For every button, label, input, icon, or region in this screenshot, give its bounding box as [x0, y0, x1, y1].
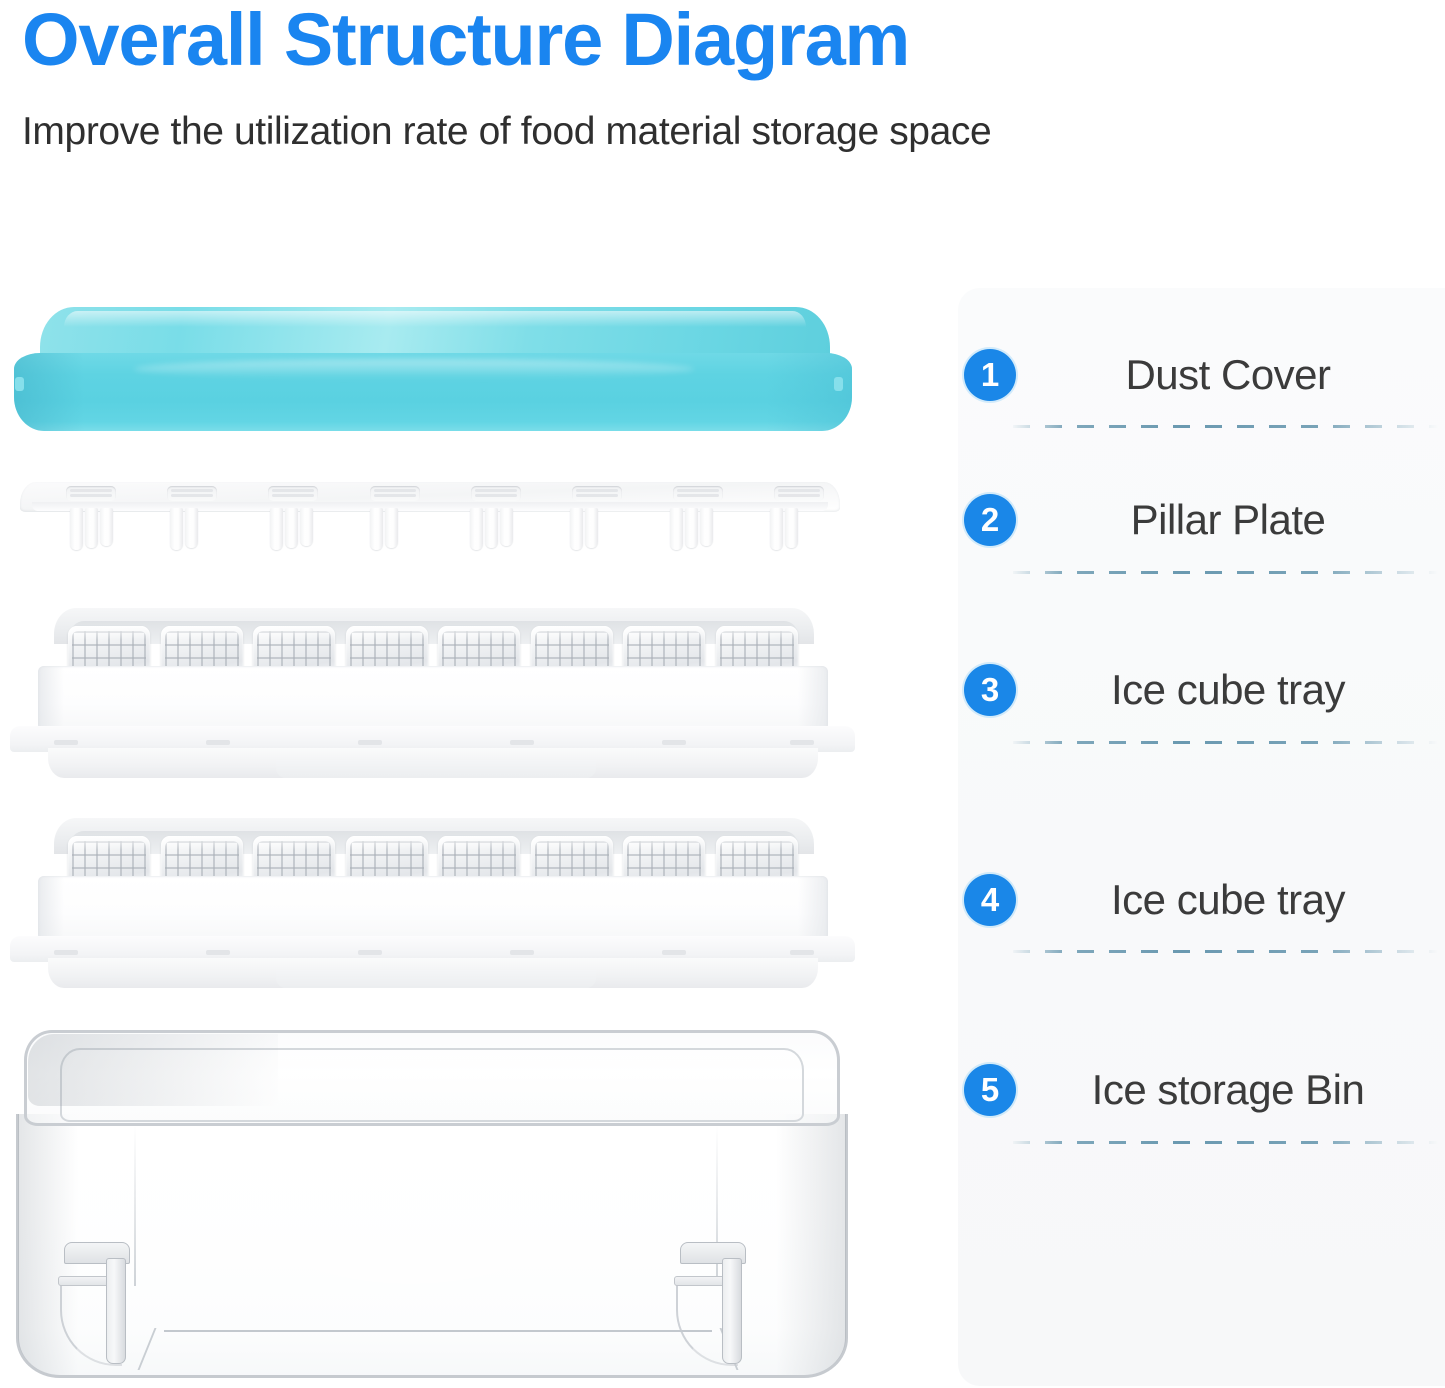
ice-cube-tray-upper-illustration — [10, 608, 855, 780]
pillar — [485, 508, 498, 548]
pillar-group — [170, 508, 232, 550]
legend-divider-3 — [1013, 741, 1438, 744]
tray-foot — [48, 748, 818, 778]
pillar-group — [270, 508, 332, 550]
pillar — [185, 508, 198, 548]
dust-cover-highlight — [134, 359, 694, 379]
pillar — [685, 508, 698, 548]
legend-number-3: 3 — [981, 673, 999, 706]
bin-handle-right — [674, 1242, 750, 1370]
tray-body — [38, 666, 828, 734]
pillar — [570, 508, 583, 550]
handle-post — [106, 1258, 126, 1364]
pillar-group — [470, 508, 532, 550]
pillar — [285, 508, 298, 548]
tray-tab — [510, 740, 534, 745]
legend-label-ice-cube-tray-4: Ice cube tray — [1018, 876, 1438, 924]
structure-diagram-page: Overall Structure Diagram Improve the ut… — [0, 0, 1445, 1388]
pillar — [585, 508, 598, 548]
bin-inner-wall-left — [134, 1126, 136, 1286]
pillar — [85, 508, 98, 548]
pillar — [470, 508, 483, 550]
tray-tab — [206, 740, 230, 745]
pillar-plate-hole — [66, 486, 116, 501]
pillar-group — [670, 508, 732, 550]
tray-tab — [358, 950, 382, 955]
pillar — [385, 508, 398, 548]
pillar-plate-hole — [167, 486, 217, 501]
product-illustration-stage — [0, 0, 940, 1388]
pillar-group — [370, 508, 432, 550]
legend-item-dust-cover[interactable]: 1 Dust Cover — [958, 320, 1445, 430]
bin-floor-line — [164, 1330, 712, 1332]
legend-number-badge-1: 1 — [964, 349, 1016, 401]
ice-storage-bin-illustration — [16, 1030, 848, 1378]
pillar-group — [70, 508, 132, 550]
legend-label-dust-cover: Dust Cover — [1018, 351, 1438, 399]
legend-number-badge-2: 2 — [964, 494, 1016, 546]
pillar-group — [770, 508, 832, 550]
legend-number-4: 4 — [981, 883, 999, 916]
pillar — [70, 508, 83, 550]
handle-post — [722, 1258, 742, 1364]
legend-item-pillar-plate[interactable]: 2 Pillar Plate — [958, 465, 1445, 575]
pillar-plate-hole — [774, 486, 824, 501]
ice-cube-tray-lower-illustration — [10, 818, 855, 990]
tray-tab — [206, 950, 230, 955]
tray-tab — [358, 740, 382, 745]
pillar-group — [570, 508, 632, 550]
pillar-plate-hole — [572, 486, 622, 501]
pillar — [100, 508, 113, 546]
tray-body — [38, 876, 828, 944]
legend-label-ice-cube-tray-3: Ice cube tray — [1018, 666, 1438, 714]
legend-label-pillar-plate: Pillar Plate — [1018, 496, 1438, 544]
legend-item-ice-cube-tray-4[interactable]: 4 Ice cube tray — [958, 845, 1445, 955]
pillar-plate-hole — [471, 486, 521, 501]
legend-panel: 1 Dust Cover 2 Pillar Plate 3 Ice cube t… — [958, 288, 1445, 1386]
legend-item-ice-storage-bin[interactable]: 5 Ice storage Bin — [958, 1035, 1445, 1145]
legend-number-badge-4: 4 — [964, 874, 1016, 926]
pillar-plate-hole — [268, 486, 318, 501]
legend-divider-1 — [1013, 425, 1438, 428]
tray-tab — [54, 950, 78, 955]
pillar — [170, 508, 183, 550]
bin-rim-shadow — [28, 1034, 278, 1106]
legend-label-ice-storage-bin: Ice storage Bin — [1018, 1066, 1438, 1114]
pillar — [300, 508, 313, 546]
pillar — [670, 508, 683, 550]
legend-number-5: 5 — [981, 1073, 999, 1106]
pillar — [270, 508, 283, 550]
pillar — [500, 508, 513, 546]
dust-cover-right-nub — [834, 377, 843, 391]
pillar — [370, 508, 383, 550]
bin-handle-left — [58, 1242, 134, 1370]
legend-number-badge-5: 5 — [964, 1064, 1016, 1116]
pillar-plate-hole — [673, 486, 723, 501]
legend-divider-2 — [1013, 571, 1438, 574]
dust-cover-left-nub — [15, 377, 24, 391]
legend-number-badge-3: 3 — [964, 664, 1016, 716]
tray-foot — [48, 958, 818, 988]
tray-tab — [662, 740, 686, 745]
pillar — [770, 508, 783, 550]
pillar — [700, 508, 713, 546]
legend-divider-5 — [1013, 1141, 1438, 1144]
tray-tab — [790, 950, 814, 955]
tray-tab — [510, 950, 534, 955]
dust-cover-illustration — [14, 307, 844, 431]
tray-tab — [54, 740, 78, 745]
legend-item-ice-cube-tray-3[interactable]: 3 Ice cube tray — [958, 635, 1445, 745]
legend-number-2: 2 — [981, 503, 999, 536]
pillar-plate-hole — [370, 486, 420, 501]
pillar-plate-illustration — [20, 482, 840, 550]
legend-number-1: 1 — [981, 358, 999, 391]
tray-tab — [662, 950, 686, 955]
pillar — [785, 508, 798, 548]
tray-tab — [790, 740, 814, 745]
legend-divider-4 — [1013, 950, 1438, 953]
